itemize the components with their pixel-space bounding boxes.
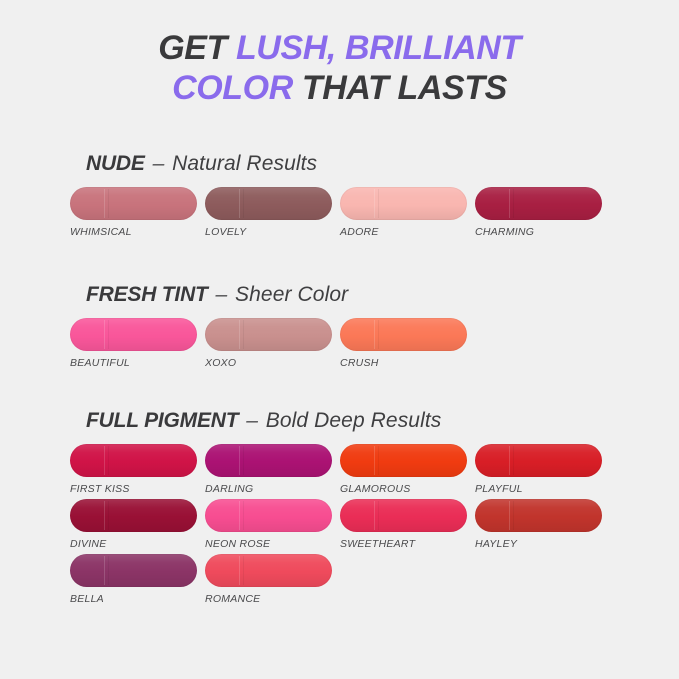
swatch-label: GLAMOROUS xyxy=(340,483,475,495)
swatch-beautiful[interactable]: BEAUTIFUL xyxy=(70,318,205,370)
swatch-divine[interactable]: DIVINE xyxy=(70,499,205,551)
swatch-romance[interactable]: ROMANCE xyxy=(205,554,340,606)
swatch-playful[interactable]: PLAYFUL xyxy=(475,444,610,496)
swatch-edge-outline xyxy=(475,444,602,477)
section-separator: – xyxy=(151,152,167,175)
swatch-label: FIRST KISS xyxy=(70,483,205,495)
swatch-color-chip[interactable] xyxy=(70,187,197,220)
swatch-row: BELLAROMANCE xyxy=(0,554,679,609)
swatch-sweetheart[interactable]: SWEETHEART xyxy=(340,499,475,551)
section-nude: NUDE – Natural ResultsWHIMSICALLOVELYADO… xyxy=(0,152,679,242)
swatch-color-chip[interactable] xyxy=(475,444,602,477)
swatch-glamorous[interactable]: GLAMOROUS xyxy=(340,444,475,496)
swatch-label: ROMANCE xyxy=(205,593,340,605)
swatch-label: XOXO xyxy=(205,357,340,369)
swatch-bella[interactable]: BELLA xyxy=(70,554,205,606)
swatch-color-chip[interactable] xyxy=(70,318,197,351)
swatch-color-chip[interactable] xyxy=(70,554,197,587)
swatch-color-chip[interactable] xyxy=(475,187,602,220)
section-subtitle: Natural Results xyxy=(172,152,317,175)
swatch-color-chip[interactable] xyxy=(205,444,332,477)
swatch-label: PLAYFUL xyxy=(475,483,610,495)
swatch-row: FIRST KISSDARLINGGLAMOROUSPLAYFUL xyxy=(0,444,679,499)
swatch-label: CRUSH xyxy=(340,357,475,369)
swatch-edge-outline xyxy=(70,499,197,532)
section-subtitle: Sheer Color xyxy=(235,283,348,306)
section-name: NUDE xyxy=(86,152,145,175)
shade-chart-page: GET LUSH, BRILLIANT COLOR THAT LASTS NUD… xyxy=(0,0,679,679)
swatch-label: CHARMING xyxy=(475,226,610,238)
swatch-neon-rose[interactable]: NEON ROSE xyxy=(205,499,340,551)
swatch-edge-outline xyxy=(205,187,332,220)
swatch-label: DIVINE xyxy=(70,538,205,550)
swatch-edge-outline xyxy=(340,499,467,532)
swatch-edge-outline xyxy=(340,318,467,351)
section-name: FULL PIGMENT xyxy=(86,409,238,432)
swatch-row: BEAUTIFULXOXOCRUSH xyxy=(0,318,679,373)
swatch-color-chip[interactable] xyxy=(475,499,602,532)
swatch-label: NEON ROSE xyxy=(205,538,340,550)
swatch-edge-outline xyxy=(475,187,602,220)
swatch-whimsical[interactable]: WHIMSICAL xyxy=(70,187,205,239)
swatch-first-kiss[interactable]: FIRST KISS xyxy=(70,444,205,496)
headline-lush-brilliant-text: LUSH, BRILLIANT xyxy=(236,29,521,67)
swatch-color-chip[interactable] xyxy=(340,318,467,351)
swatch-edge-outline xyxy=(205,554,332,587)
swatch-color-chip[interactable] xyxy=(70,499,197,532)
swatch-label: ADORE xyxy=(340,226,475,238)
headline-get-text: GET xyxy=(158,29,236,67)
swatch-edge-outline xyxy=(70,318,197,351)
headline-line-1: GET LUSH, BRILLIANT xyxy=(0,28,679,68)
swatch-color-chip[interactable] xyxy=(340,444,467,477)
section-fresh-tint: FRESH TINT – Sheer ColorBEAUTIFULXOXOCRU… xyxy=(0,283,679,373)
headline-color-text: COLOR xyxy=(172,69,293,107)
swatch-edge-outline xyxy=(70,187,197,220)
swatch-color-chip[interactable] xyxy=(340,187,467,220)
headline-that-lasts-text: THAT LASTS xyxy=(293,69,507,107)
section-name: FRESH TINT xyxy=(86,283,208,306)
swatch-label: SWEETHEART xyxy=(340,538,475,550)
swatch-label: LOVELY xyxy=(205,226,340,238)
swatch-label: BELLA xyxy=(70,593,205,605)
swatch-charming[interactable]: CHARMING xyxy=(475,187,610,239)
section-separator: – xyxy=(244,409,260,432)
section-title: FRESH TINT – Sheer Color xyxy=(86,283,679,307)
swatch-edge-outline xyxy=(205,499,332,532)
swatch-lovely[interactable]: LOVELY xyxy=(205,187,340,239)
swatch-edge-outline xyxy=(475,499,602,532)
swatch-darling[interactable]: DARLING xyxy=(205,444,340,496)
swatch-grid: WHIMSICALLOVELYADORECHARMING xyxy=(0,187,679,242)
swatch-edge-outline xyxy=(340,444,467,477)
swatch-edge-outline xyxy=(205,444,332,477)
swatch-color-chip[interactable] xyxy=(205,499,332,532)
swatch-color-chip[interactable] xyxy=(205,554,332,587)
swatch-row: DIVINENEON ROSESWEETHEARTHAYLEY xyxy=(0,499,679,554)
section-subtitle: Bold Deep Results xyxy=(266,409,442,432)
swatch-color-chip[interactable] xyxy=(70,444,197,477)
swatch-edge-outline xyxy=(70,554,197,587)
swatch-adore[interactable]: ADORE xyxy=(340,187,475,239)
page-headline: GET LUSH, BRILLIANT COLOR THAT LASTS xyxy=(0,28,679,108)
swatch-color-chip[interactable] xyxy=(205,187,332,220)
swatch-label: WHIMSICAL xyxy=(70,226,205,238)
section-title: NUDE – Natural Results xyxy=(86,152,679,176)
swatch-color-chip[interactable] xyxy=(340,499,467,532)
swatch-color-chip[interactable] xyxy=(205,318,332,351)
swatch-edge-outline xyxy=(70,444,197,477)
swatch-row: WHIMSICALLOVELYADORECHARMING xyxy=(0,187,679,242)
swatch-grid: BEAUTIFULXOXOCRUSH xyxy=(0,318,679,373)
swatch-label: DARLING xyxy=(205,483,340,495)
section-full-pigment: FULL PIGMENT – Bold Deep ResultsFIRST KI… xyxy=(0,409,679,609)
swatch-label: BEAUTIFUL xyxy=(70,357,205,369)
swatch-crush[interactable]: CRUSH xyxy=(340,318,475,370)
section-title: FULL PIGMENT – Bold Deep Results xyxy=(86,409,679,433)
headline-line-2: COLOR THAT LASTS xyxy=(0,68,679,108)
section-separator: – xyxy=(214,283,230,306)
swatch-grid: FIRST KISSDARLINGGLAMOROUSPLAYFULDIVINEN… xyxy=(0,444,679,609)
swatch-xoxo[interactable]: XOXO xyxy=(205,318,340,370)
swatch-hayley[interactable]: HAYLEY xyxy=(475,499,610,551)
swatch-edge-outline xyxy=(340,187,467,220)
swatch-edge-outline xyxy=(205,318,332,351)
swatch-label: HAYLEY xyxy=(475,538,610,550)
